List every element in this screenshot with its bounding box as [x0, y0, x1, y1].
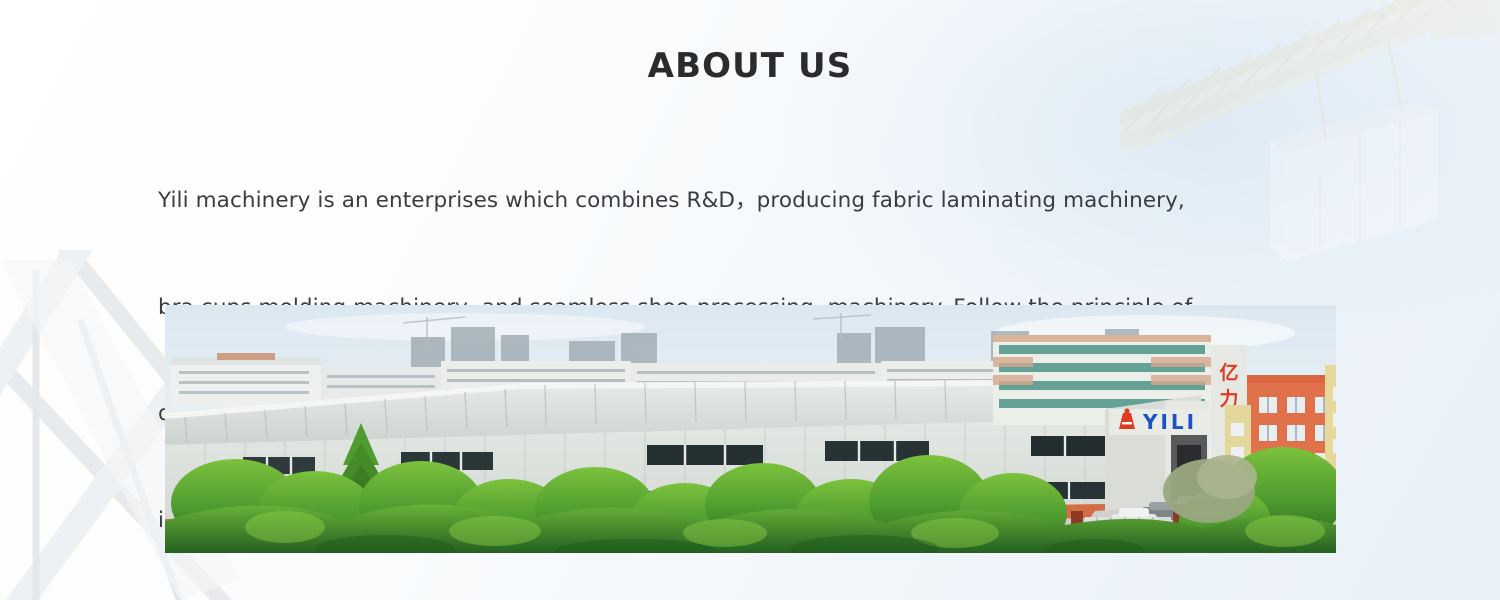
about-line-1: Yili machinery is an enterprises which c…	[158, 183, 1346, 219]
factory-photo: YILI 亿 力	[165, 305, 1336, 553]
page-title: ABOUT US	[0, 46, 1500, 86]
photo-signage-yili: YILI	[1142, 410, 1197, 434]
photo-signage-chinese-1: 亿	[1219, 361, 1238, 384]
about-us-page: ABOUT US Yili machinery is an enterprise…	[0, 0, 1500, 600]
